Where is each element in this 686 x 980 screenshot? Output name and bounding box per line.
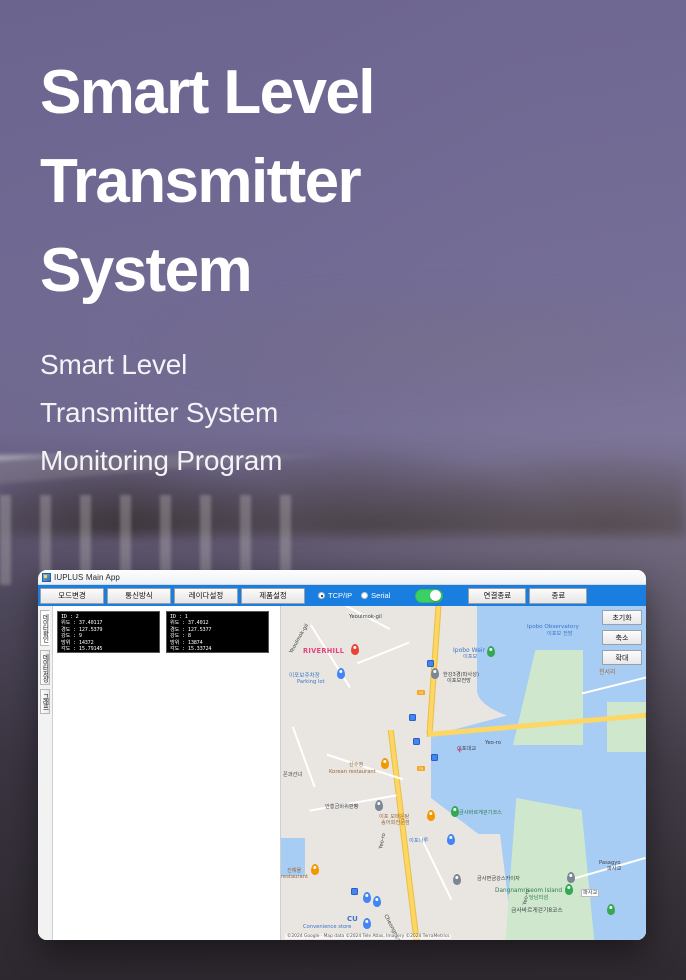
map-pin-skyway[interactable] (567, 872, 575, 883)
map-pin-lower-mid-2[interactable] (373, 896, 381, 907)
map-pin-course-8[interactable] (607, 904, 615, 915)
map-label-geumsa-course: 금사바르게걷기코스 (459, 810, 502, 816)
radar-settings-button[interactable]: 레이다설정 (174, 588, 238, 604)
radio-tcpip-dot (318, 592, 325, 599)
map-controls: 초기화 축소 확대 (602, 610, 642, 665)
exit-button[interactable]: 종료 (529, 588, 587, 604)
map-label-restaurant: restaurant (281, 874, 308, 880)
map-label-yeoro-1: Yeo-ro (485, 740, 501, 746)
sensor-data-pane: ID : 2 위도 : 37.40117 경도 : 127.5379 강도 : … (53, 606, 281, 940)
disconnect-button[interactable]: 연결종료 (468, 588, 526, 604)
map-attribution: ©2024 Google · Map data ©2024 Tele Atlas… (285, 934, 451, 939)
map-pin-jinhaemul[interactable] (311, 864, 319, 875)
map-canvas[interactable]: Yeoulmok-gil Yeoulmok-gil RIVERHILL 이포보주… (281, 606, 646, 940)
window-app-icon (42, 573, 51, 582)
map-label-ipobo-obs-kr: 이포보 전망 (547, 631, 573, 637)
map-label-korean-restaurant: Korean restaurant (329, 769, 376, 775)
map-label-parking-lot: Parking lot (297, 679, 325, 685)
map-pin-lower-mid[interactable] (363, 892, 371, 903)
vertical-tab-strip: 데이터확인 데이터저장 그래프 (38, 606, 53, 940)
map-zoom-in-button[interactable]: 확대 (602, 650, 642, 665)
app-toolbar: 모드변경 통신방식 레이다설정 제품설정 TCP/IP Serial 연결종료 … (38, 585, 646, 606)
panel2-line-6: 각도 : 15.79145 (61, 646, 157, 652)
map-label-pasagyo-box: 파사교 (581, 889, 599, 897)
map-label-yeoulmok-1: Yeoulmok-gil (349, 614, 382, 620)
map-pin-riverhill[interactable] (351, 644, 359, 655)
map-zoom-out-button[interactable]: 축소 (602, 630, 642, 645)
window-titlebar[interactable]: IUPLUS Main App (38, 570, 646, 585)
subtitle-line-2: Transmitter System (40, 397, 278, 428)
map-pin-left-mid[interactable] (453, 874, 461, 885)
map-pin-maeuntang[interactable] (427, 810, 435, 821)
app-body: 데이터확인 데이터저장 그래프 ID : 2 위도 : 37.40117 경도 … (38, 606, 646, 940)
radio-serial[interactable]: Serial (361, 591, 390, 600)
map-label-ipobo-view: 이포보전망 (447, 678, 471, 684)
map-road-white-7 (420, 836, 452, 900)
map-label-geumsamyeon-sky: 금사면금강스카이자 (477, 876, 520, 882)
map-label-ipobo-obs-en: Ipobo Observatory (527, 624, 579, 630)
map-label-convenience-store: Convenience store (303, 924, 351, 930)
map-label-dangnamriseom-kr: 당남리섬 (529, 895, 548, 901)
map-pin-parking[interactable] (337, 668, 345, 679)
map-crosshair-marker: + (457, 746, 462, 755)
toolbar-right-buttons: 연결종료 종료 (468, 588, 587, 604)
subtitle-line-3: Monitoring Program (40, 445, 282, 476)
map-label-sansujeong: 산수정 (349, 762, 363, 768)
sensor-data-panel-2[interactable]: ID : 2 위도 : 37.40117 경도 : 127.5379 강도 : … (57, 611, 160, 653)
map-label-cu: CU (347, 916, 358, 922)
tab-data-view[interactable]: 데이터확인 (40, 610, 50, 646)
connection-toggle[interactable] (415, 589, 443, 603)
map-reset-button[interactable]: 초기화 (602, 610, 642, 625)
app-window: IUPLUS Main App 모드변경 통신방식 레이다설정 제품설정 TCP… (38, 570, 646, 940)
map-marker-square-1[interactable] (427, 660, 434, 667)
title-line-3: System (40, 236, 251, 305)
map-label-ipobo-weir-kr: 이포보 (463, 654, 477, 660)
page-title: Smart Level Transmitter System (40, 48, 480, 315)
map-pin-cu[interactable] (363, 918, 371, 929)
map-label-cheonseori: 천서리 (599, 670, 616, 676)
map-road-main-lower (388, 730, 421, 940)
connection-toggle-knob (430, 590, 441, 601)
map-label-riverhill: RIVERHILL (303, 648, 344, 654)
hero-section: Smart Level Transmitter System Smart Lev… (40, 48, 480, 485)
window-title: IUPLUS Main App (54, 573, 120, 582)
comm-method-button[interactable]: 통신방식 (107, 588, 171, 604)
map-label-kkonsinyeo: 꼰과선녀 (283, 772, 302, 778)
mode-change-button[interactable]: 모드변경 (40, 588, 104, 604)
map-marker-square-5[interactable] (351, 888, 358, 895)
map-label-anheung: 안흥금바위판빵 (325, 804, 358, 810)
product-settings-button[interactable]: 제품설정 (241, 588, 305, 604)
map-pin-anheung[interactable] (375, 800, 383, 811)
map-pin-geumsa[interactable] (451, 806, 459, 817)
subtitle-line-1: Smart Level (40, 349, 187, 380)
tab-graph[interactable]: 그래프 (40, 689, 50, 714)
title-line-2: Transmitter (40, 147, 360, 216)
connection-type-radio-group: TCP/IP Serial (318, 591, 390, 600)
map-highway-shield-1: 70 (417, 690, 425, 695)
tab-data-save[interactable]: 데이터저장 (40, 650, 50, 686)
map-pin-dangnamriseom[interactable] (565, 884, 573, 895)
map-marker-square-2[interactable] (409, 714, 416, 721)
title-line-1: Smart Level (40, 58, 374, 127)
map-pane[interactable]: Yeoulmok-gil Yeoulmok-gil RIVERHILL 이포보주… (281, 606, 646, 940)
map-pin-hangang[interactable] (431, 668, 439, 679)
radio-tcpip-label: TCP/IP (328, 591, 352, 600)
radio-serial-label: Serial (371, 591, 390, 600)
sensor-data-panel-1[interactable]: ID : 1 위도 : 37.4012 경도 : 127.5377 강도 : 8… (166, 611, 269, 653)
map-road-white-6 (292, 726, 315, 787)
sensor-data-row: ID : 2 위도 : 37.40117 경도 : 127.5379 강도 : … (57, 611, 276, 653)
radio-tcpip[interactable]: TCP/IP (318, 591, 352, 600)
map-label-songeo: 송어회전문점 (381, 820, 410, 826)
map-pin-ipobo-weir[interactable] (487, 646, 495, 657)
map-marker-square-4[interactable] (431, 754, 438, 761)
map-highway-shield-2: 70 (417, 766, 425, 771)
map-pin-sansujeong[interactable] (381, 758, 389, 769)
map-label-geumsa-8course: 금사바르게걷기8코스 (511, 908, 563, 914)
map-label-iponaru: 이포나루 (409, 838, 428, 844)
map-label-pasagyo-kr: 파사교 (607, 866, 621, 872)
map-label-yeoro-2: Yeo-ro (378, 833, 387, 850)
panel1-line-6: 각도 : 15.33724 (170, 646, 266, 652)
map-marker-square-3[interactable] (413, 738, 420, 745)
map-road-white-3 (357, 642, 409, 664)
map-land-green-right (607, 702, 646, 752)
map-pin-iponaru[interactable] (447, 834, 455, 845)
page-subtitle: Smart Level Transmitter System Monitorin… (40, 341, 480, 485)
radio-serial-dot (361, 592, 368, 599)
